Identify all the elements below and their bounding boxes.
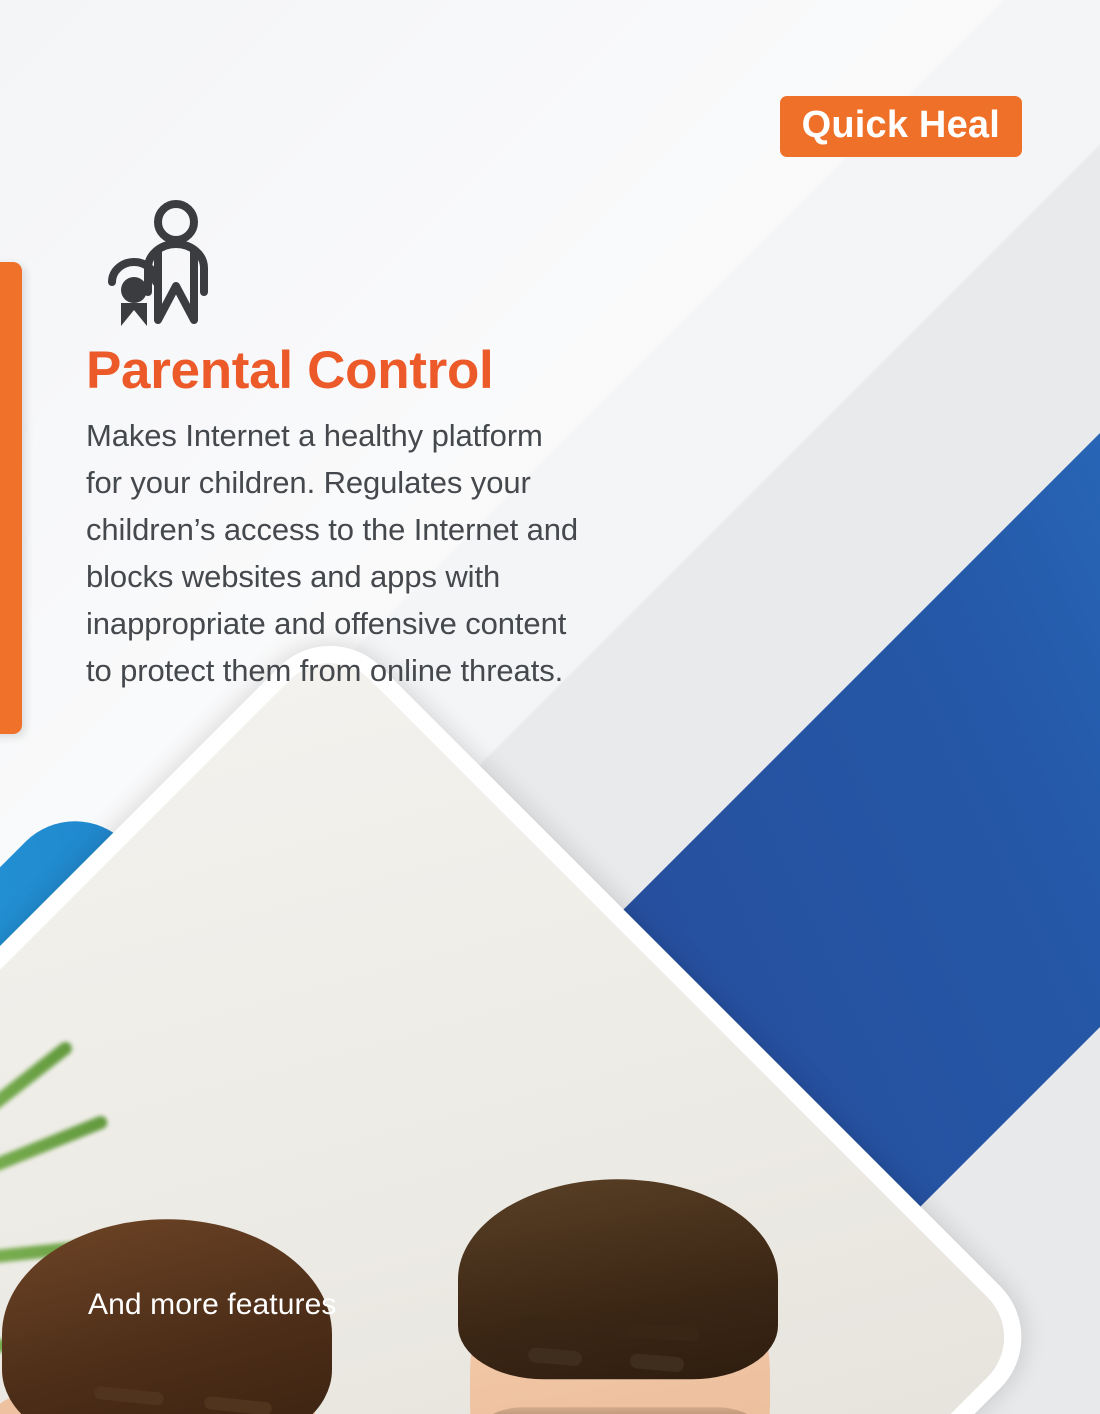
orange-side-tab (0, 262, 22, 734)
father-beard (472, 1407, 768, 1414)
quick-heal-logo[interactable]: Quick Heal (780, 96, 1022, 157)
parental-control-feature-poster: Quick Heal Parental Control Makes Intern… (0, 0, 1100, 1414)
and-more-features-label: And more features (88, 1288, 337, 1322)
parent-and-child-icon (100, 198, 218, 326)
father-hair (458, 1179, 778, 1379)
feature-title: Parental Control (86, 340, 493, 401)
feature-description: Makes Internet a healthy platform for yo… (86, 412, 586, 694)
